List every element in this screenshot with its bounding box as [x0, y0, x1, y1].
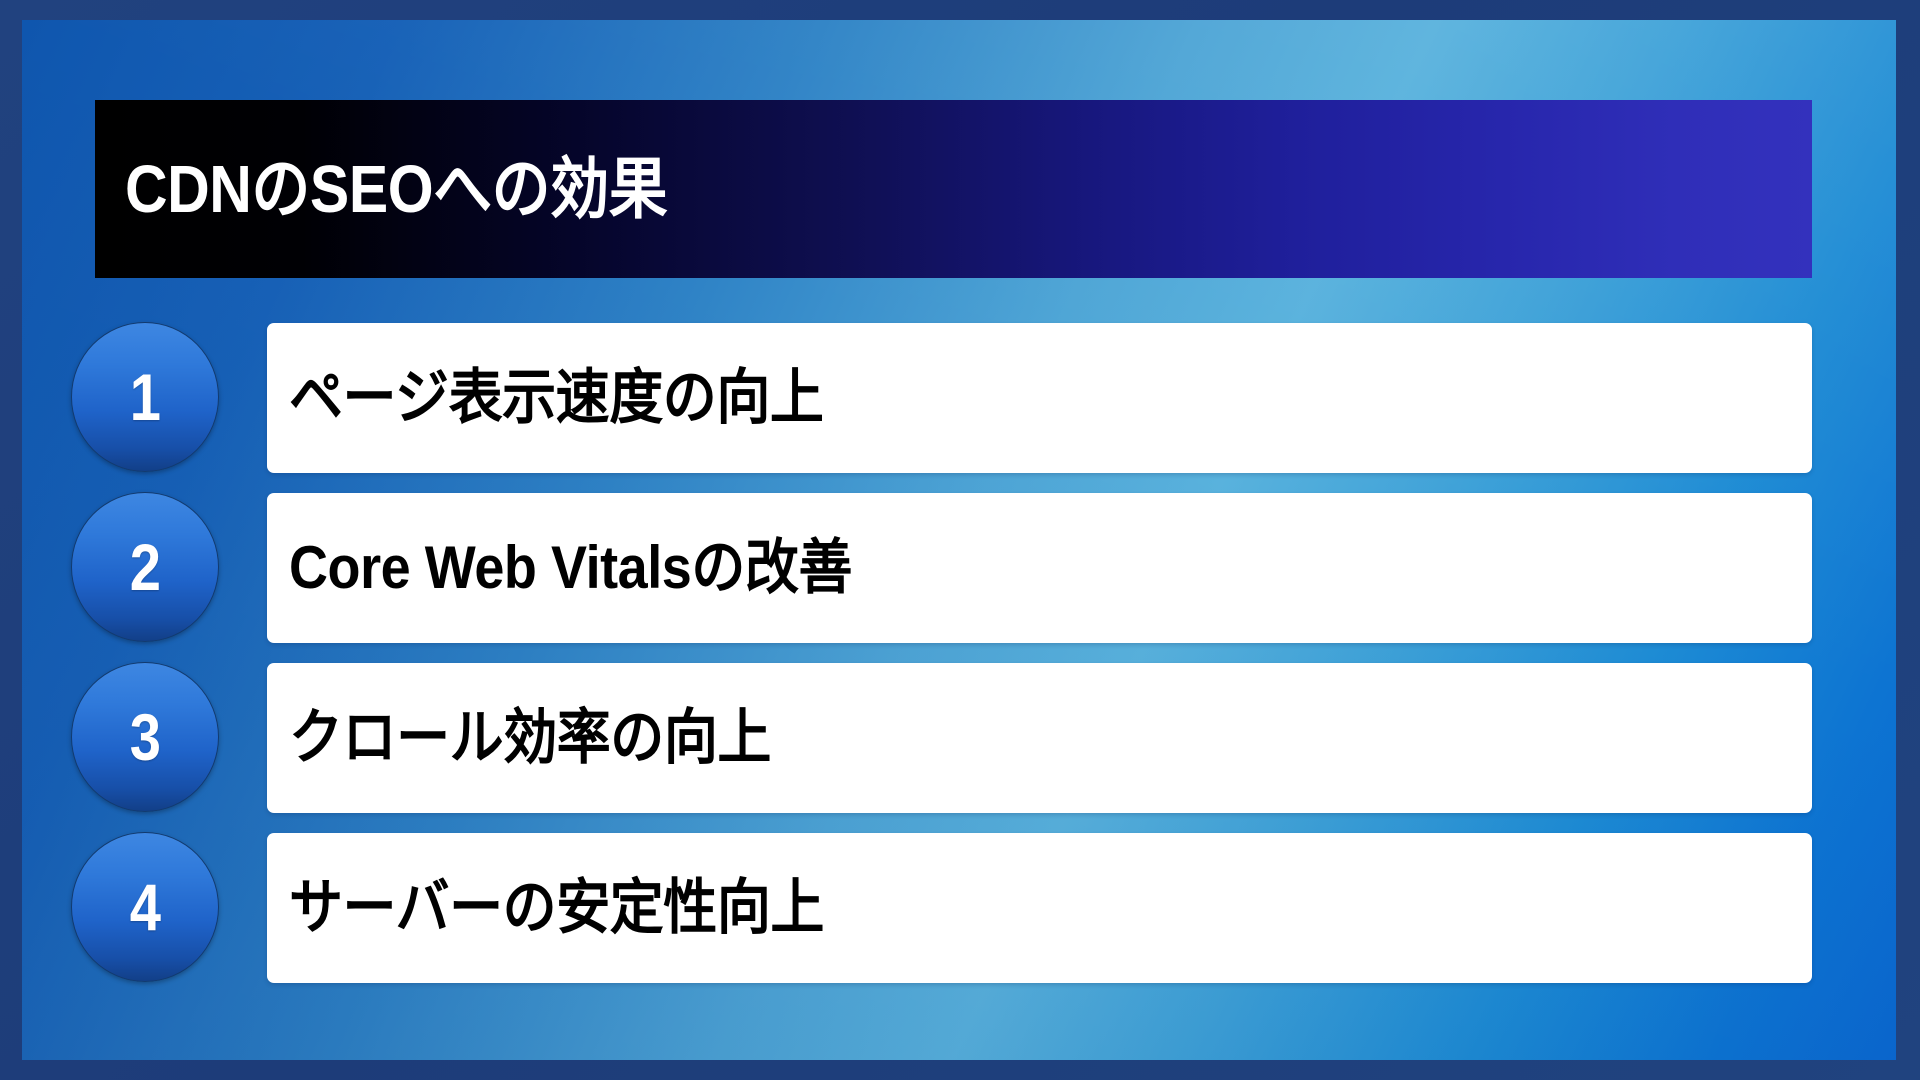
- item-number-label: 1: [129, 364, 160, 430]
- page-title: CDNのSEOへの効果: [125, 156, 667, 223]
- item-card[interactable]: サーバーの安定性向上: [267, 833, 1812, 983]
- list-item[interactable]: 1 ページ表示速度の向上: [0, 323, 1920, 473]
- title-bar: CDNのSEOへの効果: [95, 100, 1812, 278]
- item-card[interactable]: Core Web Vitalsの改善: [267, 493, 1812, 643]
- list-item[interactable]: 4 サーバーの安定性向上: [0, 833, 1920, 983]
- item-card-label: クロール効率の向上: [289, 708, 771, 768]
- slide: CDNのSEOへの効果 1 ページ表示速度の向上 2 Core Web Vita…: [0, 0, 1920, 1080]
- item-number-badge: 2: [71, 492, 219, 642]
- item-number-label: 2: [129, 534, 160, 600]
- item-card[interactable]: ページ表示速度の向上: [267, 323, 1812, 473]
- item-number-label: 4: [129, 874, 160, 940]
- item-card-label: Core Web Vitalsの改善: [289, 538, 852, 598]
- item-number-badge: 3: [71, 662, 219, 812]
- item-card[interactable]: クロール効率の向上: [267, 663, 1812, 813]
- item-number-badge: 1: [71, 322, 219, 472]
- item-number-label: 3: [129, 704, 160, 770]
- list-item[interactable]: 3 クロール効率の向上: [0, 663, 1920, 813]
- item-card-label: サーバーの安定性向上: [289, 878, 824, 938]
- item-number-badge: 4: [71, 832, 219, 982]
- items-list: 1 ページ表示速度の向上 2 Core Web Vitalsの改善 3 クロール…: [0, 323, 1920, 1003]
- list-item[interactable]: 2 Core Web Vitalsの改善: [0, 493, 1920, 643]
- item-card-label: ページ表示速度の向上: [289, 368, 823, 428]
